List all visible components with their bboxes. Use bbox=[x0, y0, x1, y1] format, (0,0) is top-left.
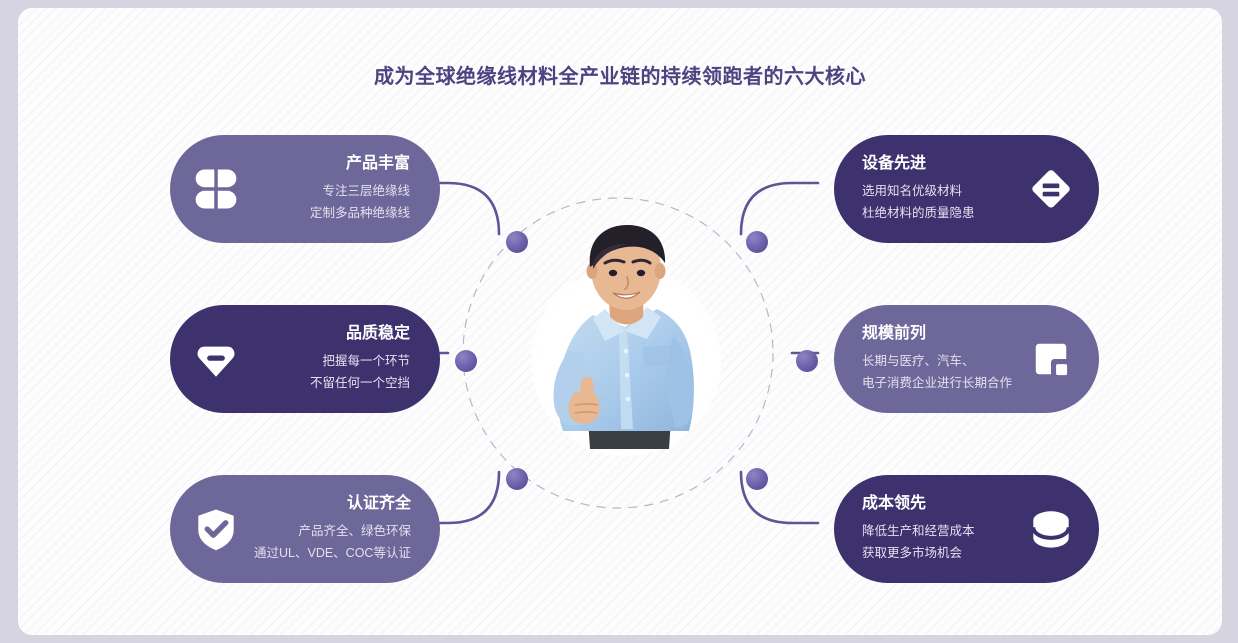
card-title: 产品丰富 bbox=[254, 154, 410, 174]
card-line-1: 降低生产和经营成本 bbox=[862, 521, 1015, 543]
card-line-2: 不留任何一个空挡 bbox=[254, 373, 410, 395]
feature-card-scale-leadership[interactable]: 规模前列 长期与医疗、汽车、 电子消费企业进行长期合作 bbox=[834, 305, 1099, 413]
card-line-2: 通过UL、VDE、COC等认证 bbox=[254, 543, 411, 565]
card-title: 成本领先 bbox=[862, 494, 1015, 514]
card-title: 认证齐全 bbox=[254, 494, 411, 514]
card-text-body: 规模前列 长期与医疗、汽车、 电子消费企业进行长期合作 bbox=[860, 324, 1015, 394]
shield-check-icon bbox=[190, 503, 242, 555]
connector-dot-top-left bbox=[506, 231, 528, 253]
feature-card-certifications[interactable]: 认证齐全 产品齐全、绿色环保 通过UL、VDE、COC等认证 bbox=[170, 475, 440, 583]
clover-four-petal-icon bbox=[190, 163, 242, 215]
connector-dot-bottom-right bbox=[746, 468, 768, 490]
diamond-equals-icon bbox=[1025, 163, 1077, 215]
card-title: 设备先进 bbox=[862, 154, 1015, 174]
feature-card-advanced-equipment[interactable]: 设备先进 选用知名优级材料 杜绝材料的质量隐患 bbox=[834, 135, 1099, 243]
content-panel: 成为全球绝缘线材料全产业链的持续领跑者的六大核心 bbox=[18, 8, 1222, 635]
businessman-thumbsup-illustration bbox=[493, 223, 758, 453]
card-line-1: 产品齐全、绿色环保 bbox=[254, 521, 411, 543]
card-text-body: 产品丰富 专注三层绝缘线 定制多品种绝缘线 bbox=[254, 154, 414, 224]
card-line-1: 专注三层绝缘线 bbox=[254, 181, 410, 203]
card-line-2: 定制多品种绝缘线 bbox=[254, 203, 410, 225]
gem-minus-icon bbox=[190, 333, 242, 385]
card-title: 品质稳定 bbox=[254, 324, 410, 344]
card-title: 规模前列 bbox=[862, 324, 1015, 344]
connector-dot-top-right bbox=[746, 231, 768, 253]
feature-card-cost-leadership[interactable]: 成本领先 降低生产和经营成本 获取更多市场机会 bbox=[834, 475, 1099, 583]
card-text-body: 设备先进 选用知名优级材料 杜绝材料的质量隐患 bbox=[860, 154, 1015, 224]
card-text-body: 认证齐全 产品齐全、绿色环保 通过UL、VDE、COC等认证 bbox=[254, 494, 415, 564]
card-line-1: 选用知名优级材料 bbox=[862, 181, 1015, 203]
page-title: 成为全球绝缘线材料全产业链的持续领跑者的六大核心 bbox=[18, 60, 1222, 89]
database-stack-icon bbox=[1025, 503, 1077, 555]
card-line-1: 把握每一个环节 bbox=[254, 351, 410, 373]
connector-dot-middle-left bbox=[455, 350, 477, 372]
feature-card-quality-stability[interactable]: 品质稳定 把握每一个环节 不留任何一个空挡 bbox=[170, 305, 440, 413]
card-line-2: 杜绝材料的质量隐患 bbox=[862, 203, 1015, 225]
connector-dot-middle-right bbox=[796, 350, 818, 372]
card-text-body: 成本领先 降低生产和经营成本 获取更多市场机会 bbox=[860, 494, 1015, 564]
square-blocks-icon bbox=[1025, 333, 1077, 385]
card-line-2: 获取更多市场机会 bbox=[862, 543, 1015, 565]
connector-dot-bottom-left bbox=[506, 468, 528, 490]
card-line-2: 电子消费企业进行长期合作 bbox=[862, 373, 1015, 395]
infographic-stage: 成为全球绝缘线材料全产业链的持续领跑者的六大核心 bbox=[0, 0, 1238, 643]
card-line-1: 长期与医疗、汽车、 bbox=[862, 351, 1015, 373]
feature-card-product-variety[interactable]: 产品丰富 专注三层绝缘线 定制多品种绝缘线 bbox=[170, 135, 440, 243]
card-text-body: 品质稳定 把握每一个环节 不留任何一个空挡 bbox=[254, 324, 414, 394]
